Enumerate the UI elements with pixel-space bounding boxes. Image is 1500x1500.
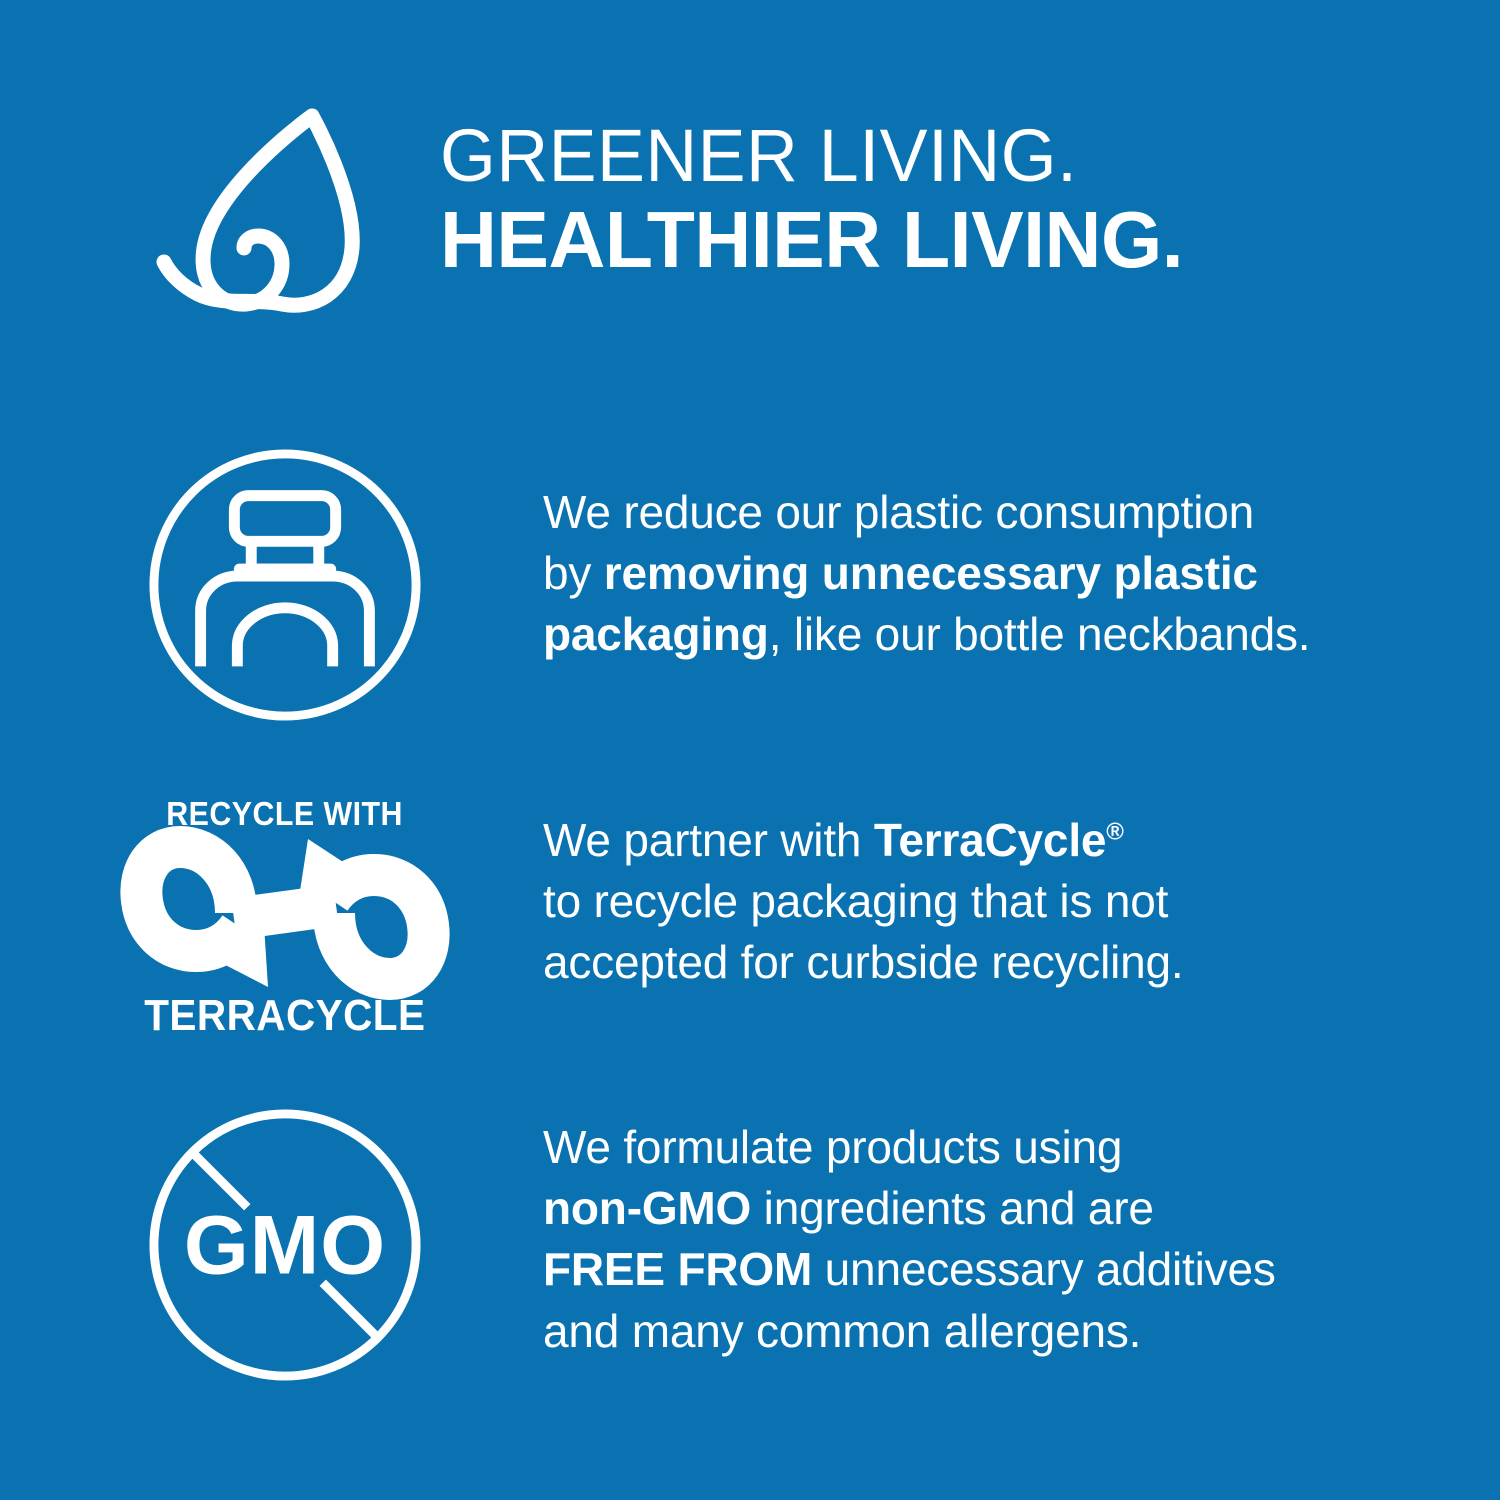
feature-row-plastic-reduction: We reduce our plastic consumption by rem…: [0, 440, 1500, 730]
headline-line-2: HEALTHIER LIVING.: [440, 199, 1376, 281]
terracycle-logo-icon: RECYCLE WITH: [140, 775, 430, 1060]
greener-living-infographic: GREENER LIVING. HEALTHIER LIVING. We red…: [0, 0, 1500, 1500]
terracycle-bottom-label: TERRACYCLE: [144, 991, 425, 1041]
header: GREENER LIVING. HEALTHIER LIVING.: [0, 0, 1500, 400]
leaf-icon: [160, 108, 410, 323]
feature-paragraph: We reduce our plastic consumption by rem…: [543, 482, 1443, 666]
infinity-recycle-icon: [140, 839, 430, 987]
bottle-neckband-icon: [140, 440, 430, 730]
terracycle-logo: RECYCLE WITH: [135, 795, 435, 1041]
feature-row-non-gmo: GMO We formulate products using non-GMO …: [0, 1095, 1500, 1395]
feature-text-non-gmo: We formulate products using non-GMO ingr…: [543, 1095, 1443, 1362]
feature-row-terracycle: RECYCLE WITH: [0, 775, 1500, 1060]
headline-line-1: GREENER LIVING.: [440, 120, 1362, 193]
feature-paragraph: We formulate products using non-GMO ingr…: [543, 1117, 1443, 1362]
terracycle-top-label: RECYCLE WITH: [167, 795, 404, 833]
feature-paragraph: We partner with TerraCycle® to recycle p…: [543, 810, 1443, 994]
no-gmo-icon: GMO: [140, 1095, 430, 1395]
feature-text-terracycle: We partner with TerraCycle® to recycle p…: [543, 775, 1443, 994]
page-title: GREENER LIVING. HEALTHIER LIVING.: [440, 120, 1390, 280]
feature-text-plastic-reduction: We reduce our plastic consumption by rem…: [543, 440, 1443, 666]
gmo-text: GMO: [184, 1199, 386, 1292]
